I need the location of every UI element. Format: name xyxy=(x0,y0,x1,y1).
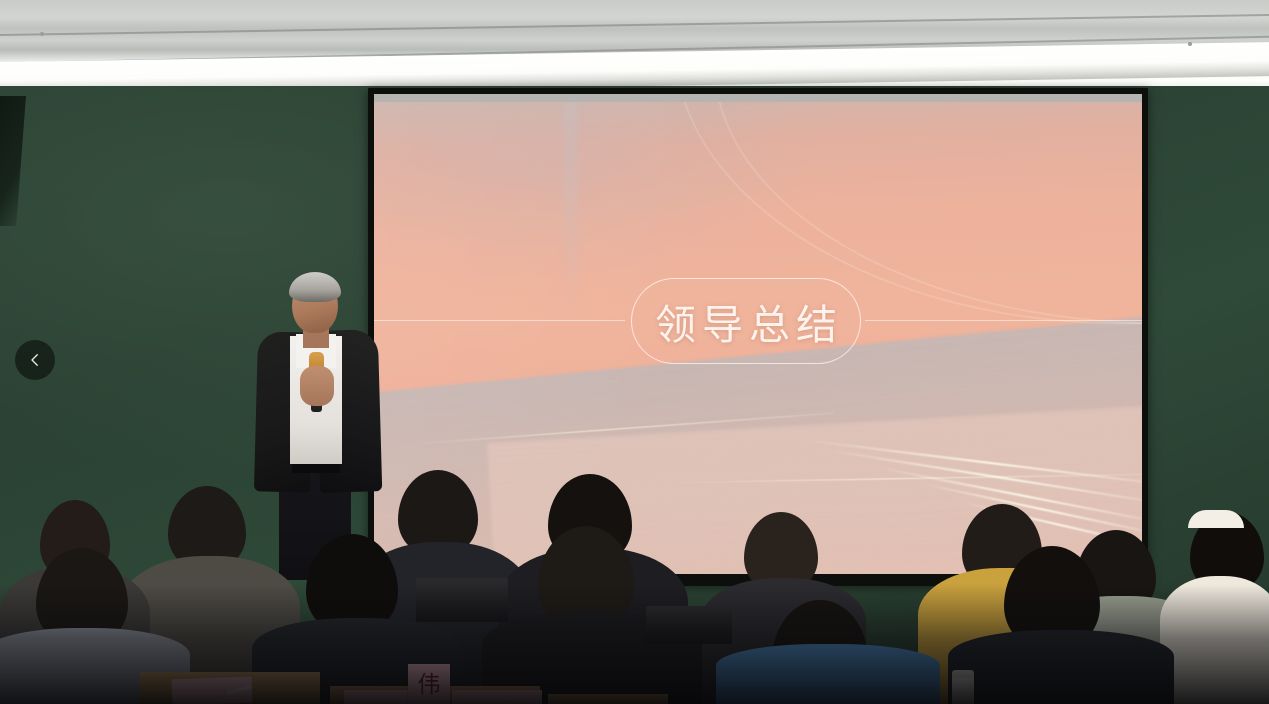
water-bottle-cap xyxy=(952,670,974,678)
projection-screen-frame: 领导总结 xyxy=(368,88,1148,586)
name-placard-text: 伟 xyxy=(418,673,441,696)
previous-image-button[interactable] xyxy=(15,340,55,380)
title-rule-right xyxy=(865,320,1142,321)
ceiling-screw xyxy=(1188,42,1192,46)
slide-title-pill: 领导总结 xyxy=(631,278,861,364)
title-rule-left xyxy=(374,320,625,321)
name-placard: 伟 xyxy=(408,664,450,704)
slide-title: 领导总结 xyxy=(649,291,843,351)
speaker-belt xyxy=(292,464,340,473)
laptop xyxy=(646,606,732,644)
audience-torso xyxy=(1160,576,1269,704)
photo-viewer-stage: 领导总结 xyxy=(0,0,1269,704)
projected-slide: 领导总结 xyxy=(374,102,1142,574)
desk-right xyxy=(548,694,668,704)
laptop xyxy=(416,578,508,622)
paper-sheet xyxy=(452,690,542,704)
chevron-left-icon xyxy=(26,351,44,369)
audience-torso xyxy=(948,630,1174,704)
audience-headband xyxy=(1188,510,1244,528)
audience-torso xyxy=(716,644,940,704)
speaker-hands xyxy=(300,366,334,406)
water-bottle xyxy=(952,676,974,704)
projector-light-streak xyxy=(564,102,578,322)
ceiling-screw xyxy=(40,32,44,36)
